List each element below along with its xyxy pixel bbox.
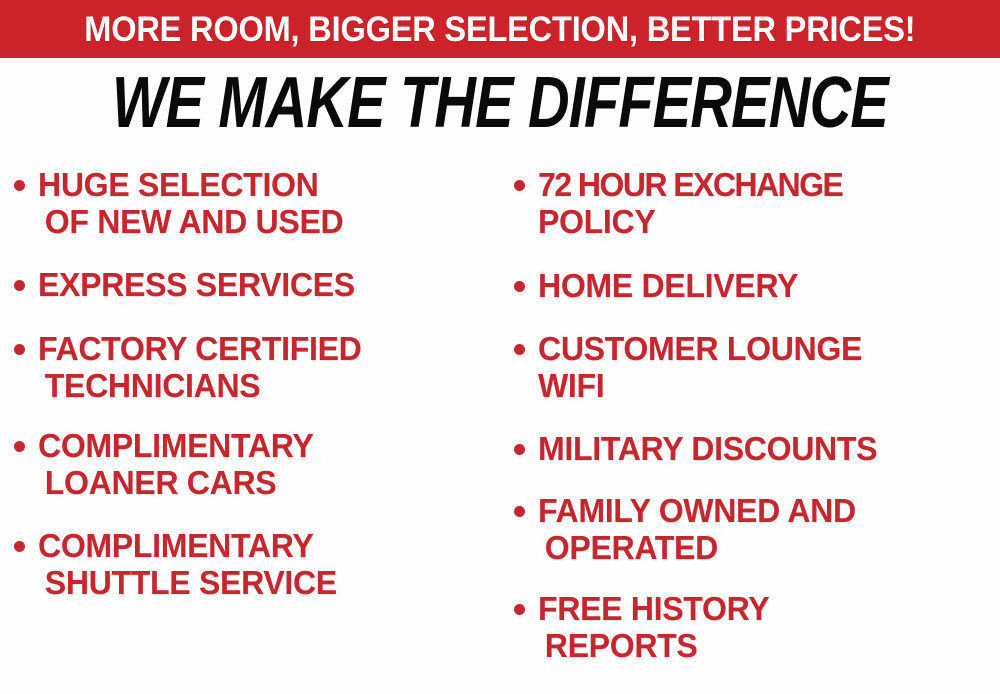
- list-item-label: COMPLIMENTARY SHUTTLE SERVICE: [38, 527, 486, 601]
- list-item-line: EXPRESS SERVICES: [38, 266, 486, 303]
- bullet-dot-icon: [514, 506, 525, 517]
- list-item-line: FREE HISTORY: [538, 590, 986, 627]
- list-item-line: OPERATED: [538, 529, 986, 566]
- list-item: COMPLIMENTARY SHUTTLE SERVICE: [14, 527, 500, 601]
- bullet-dot-icon: [514, 344, 525, 355]
- list-item-line: FACTORY CERTIFIED: [38, 330, 486, 367]
- bullet-dot-icon: [14, 344, 25, 355]
- list-item: MILITARY DISCOUNTS: [514, 430, 1000, 467]
- bullet-dot-icon: [14, 280, 25, 291]
- list-item-line: OF NEW AND USED: [38, 203, 486, 240]
- list-item-label: HOME DELIVERY: [538, 267, 986, 304]
- benefits-column-right: 72 HOUR EXCHANGE POLICY HOME DELIVERY CU…: [514, 152, 1000, 694]
- list-item: CUSTOMER LOUNGE WIFI: [514, 330, 1000, 404]
- list-item: FACTORY CERTIFIED TECHNICIANS: [14, 330, 500, 404]
- bullet-dot-icon: [514, 444, 525, 455]
- list-item-line: SHUTTLE SERVICE: [38, 564, 486, 601]
- list-item-label: FACTORY CERTIFIED TECHNICIANS: [38, 330, 486, 404]
- main-headline-text: WE MAKE THE DIFFERENCE: [112, 67, 888, 139]
- top-ribbon: MORE ROOM, BIGGER SELECTION, BETTER PRIC…: [0, 0, 1000, 58]
- list-item-label: HUGE SELECTION OF NEW AND USED: [38, 166, 486, 240]
- list-item: COMPLIMENTARY LOANER CARS: [14, 427, 500, 501]
- list-item-line: COMPLIMENTARY: [38, 427, 486, 464]
- bullet-dot-icon: [514, 604, 525, 615]
- bullet-dot-icon: [514, 281, 525, 292]
- list-item-line: MILITARY DISCOUNTS: [538, 430, 986, 467]
- list-item-label: COMPLIMENTARY LOANER CARS: [38, 427, 486, 501]
- main-headline: WE MAKE THE DIFFERENCE: [0, 63, 1000, 143]
- list-item-line: FAMILY OWNED AND: [538, 492, 986, 529]
- list-item: HUGE SELECTION OF NEW AND USED: [14, 166, 500, 240]
- list-item-line: TECHNICIANS: [38, 367, 486, 404]
- list-item-label: CUSTOMER LOUNGE WIFI: [538, 330, 986, 404]
- list-item-label: FREE HISTORY REPORTS: [538, 590, 986, 664]
- list-item: FAMILY OWNED AND OPERATED: [514, 492, 1000, 566]
- benefits-column-left: HUGE SELECTION OF NEW AND USED EXPRESS S…: [14, 152, 500, 694]
- list-item-line: HOME DELIVERY: [538, 267, 986, 304]
- list-item-line: 72 HOUR EXCHANGE: [538, 166, 986, 203]
- list-item-label: EXPRESS SERVICES: [38, 266, 486, 303]
- list-item-label: FAMILY OWNED AND OPERATED: [538, 492, 986, 566]
- bullet-dot-icon: [14, 441, 25, 452]
- list-item: FREE HISTORY REPORTS: [514, 590, 1000, 664]
- list-item-label: 72 HOUR EXCHANGE POLICY: [538, 166, 986, 240]
- promo-banner: MORE ROOM, BIGGER SELECTION, BETTER PRIC…: [0, 0, 1000, 694]
- list-item-label: MILITARY DISCOUNTS: [538, 430, 986, 467]
- list-item-line: POLICY: [538, 203, 986, 240]
- list-item-line: LOANER CARS: [38, 464, 486, 501]
- bullet-dot-icon: [14, 180, 25, 191]
- bullet-dot-icon: [514, 180, 525, 191]
- list-item-line: HUGE SELECTION: [38, 166, 486, 203]
- bullet-dot-icon: [14, 541, 25, 552]
- benefits-columns: HUGE SELECTION OF NEW AND USED EXPRESS S…: [0, 152, 1000, 694]
- list-item-line: CUSTOMER LOUNGE: [538, 330, 986, 367]
- list-item: EXPRESS SERVICES: [14, 266, 500, 303]
- list-item: 72 HOUR EXCHANGE POLICY: [514, 166, 1000, 240]
- list-item-line: COMPLIMENTARY: [38, 527, 486, 564]
- list-item-line: WIFI: [538, 367, 986, 404]
- list-item: HOME DELIVERY: [514, 267, 1000, 304]
- ribbon-headline-text: MORE ROOM, BIGGER SELECTION, BETTER PRIC…: [84, 12, 915, 47]
- list-item-line: REPORTS: [538, 627, 986, 664]
